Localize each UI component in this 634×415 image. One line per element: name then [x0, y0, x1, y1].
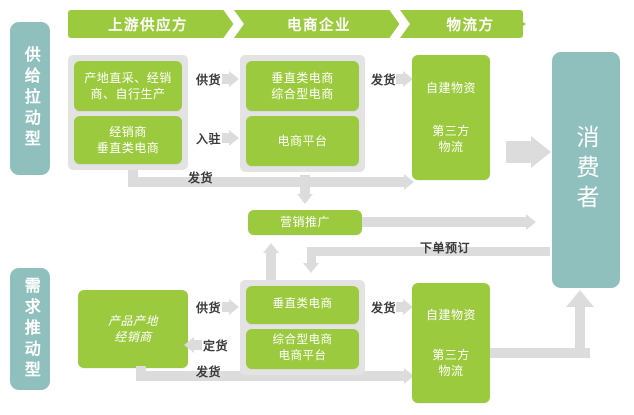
arrow-marketing-to-consumer-head	[526, 214, 536, 230]
arrow-logistics-bottom-shaft-v	[575, 305, 585, 355]
box-dealer-vertical[interactable]: 经销商 垂直类电商	[74, 116, 182, 164]
arrow-supply-top-head	[229, 71, 239, 87]
category-supply-pull: 供给拉动型	[10, 22, 50, 175]
box-vertical-comprehensive[interactable]: 垂直类电商 综合型电商	[246, 61, 359, 111]
box-direct-sourcing[interactable]: 产地直采、经销商、自行生产	[74, 61, 182, 111]
box-logistics-bottom[interactable]: 自建物资 第三方 物流	[412, 283, 490, 403]
box-ecommerce-platform-label: 电商平台	[277, 133, 327, 149]
flow-label-supply-bottom: 供货	[196, 299, 221, 316]
banner-stage-label: 上游供应方	[108, 14, 188, 35]
box-direct-sourcing-label: 产地直采、经销商、自行生产	[79, 70, 177, 102]
ecommerce-group-container-top: 垂直类电商 综合型电商 电商平台	[240, 55, 365, 172]
flow-label-ship-top: 发货	[188, 169, 213, 186]
arrow-ecom-to-marketing-head	[263, 243, 279, 253]
box-logistics-top-line2: 第三方 物流	[432, 123, 470, 155]
arrow-order-goods-shaft	[194, 340, 202, 350]
arrow-logistics-bottom-head	[566, 290, 594, 307]
banner-stage-upstream-supplier: 上游供应方	[68, 10, 228, 38]
box-consumer[interactable]: 消费者	[552, 52, 620, 288]
category-supply-pull-label: 供给拉动型	[20, 46, 40, 151]
stage-banner: 上游供应方 电商企业 物流方	[68, 10, 523, 38]
arrow-place-order-head	[303, 263, 319, 273]
arrow-order-goods-head	[184, 337, 194, 353]
box-vertical-comprehensive-label: 垂直类电商 综合型电商	[271, 70, 334, 102]
supplier-group-container: 产地直采、经销商、自行生产 经销商 垂直类电商	[68, 55, 188, 170]
box-comprehensive-platform-bottom-label: 综合型电商 电商平台	[273, 333, 333, 364]
box-product-origin-dealer[interactable]: 产品产地 经销商	[78, 290, 188, 368]
flow-label-place-order: 下单预订	[420, 239, 470, 256]
box-vertical-ecommerce-bottom[interactable]: 垂直类电商	[246, 286, 359, 324]
arrow-supply-bottom-head	[229, 299, 239, 315]
box-logistics-top[interactable]: 自建物资 第三方 物流	[412, 55, 490, 180]
flow-label-order-goods: 定货	[203, 337, 228, 354]
box-ecommerce-platform[interactable]: 电商平台	[246, 116, 359, 166]
arrow-ship-top-shaft	[128, 177, 406, 187]
diagram-canvas: 供给拉动型 需求推动型 上游供应方 电商企业 物流方 发货 产地直采、经销商、自…	[0, 0, 634, 415]
arrow-logistics-to-consumer-shaft	[506, 141, 532, 163]
arrow-marketing-to-consumer-shaft	[362, 217, 528, 227]
flow-label-supply-top: 供货	[196, 71, 221, 88]
box-comprehensive-platform-bottom[interactable]: 综合型电商 电商平台	[246, 329, 359, 369]
arrow-to-marketing-shaft	[300, 175, 310, 195]
box-vertical-ecommerce-bottom-label: 垂直类电商	[273, 297, 333, 313]
box-dealer-vertical-label: 经销商 垂直类电商	[97, 124, 160, 156]
flow-label-settle-in: 入驻	[196, 130, 221, 147]
box-logistics-bottom-line1: 自建物资	[426, 307, 476, 323]
flow-label-ship-bottom: 发货	[196, 363, 221, 380]
arrow-to-marketing-head	[297, 194, 313, 204]
arrow-ecom-to-marketing-shaft	[266, 252, 276, 280]
category-demand-push: 需求推动型	[10, 268, 50, 390]
flow-label-ship-to-logistics-bottom: 发货	[371, 299, 396, 316]
arrow-logistics-to-consumer-head	[531, 136, 551, 168]
box-logistics-bottom-line2: 第三方 物流	[432, 347, 470, 379]
box-product-origin-dealer-label: 产品产地 经销商	[108, 313, 158, 345]
box-logistics-top-line1: 自建物资	[426, 80, 476, 96]
banner-stage-label: 物流方	[447, 14, 495, 35]
banner-stage-label: 电商企业	[287, 14, 351, 35]
arrow-settle-in-head	[229, 130, 239, 146]
ecommerce-group-container-bottom: 垂直类电商 综合型电商 电商平台	[240, 280, 365, 375]
banner-stage-ecommerce-enterprise: 电商企业	[244, 10, 394, 38]
category-demand-push-label: 需求推动型	[20, 277, 40, 382]
box-marketing-promotion-label: 营销推广	[280, 214, 330, 230]
box-marketing-promotion[interactable]: 营销推广	[248, 210, 362, 235]
box-consumer-label: 消费者	[569, 125, 603, 215]
flow-label-ship-to-logistics-top: 发货	[371, 71, 396, 88]
